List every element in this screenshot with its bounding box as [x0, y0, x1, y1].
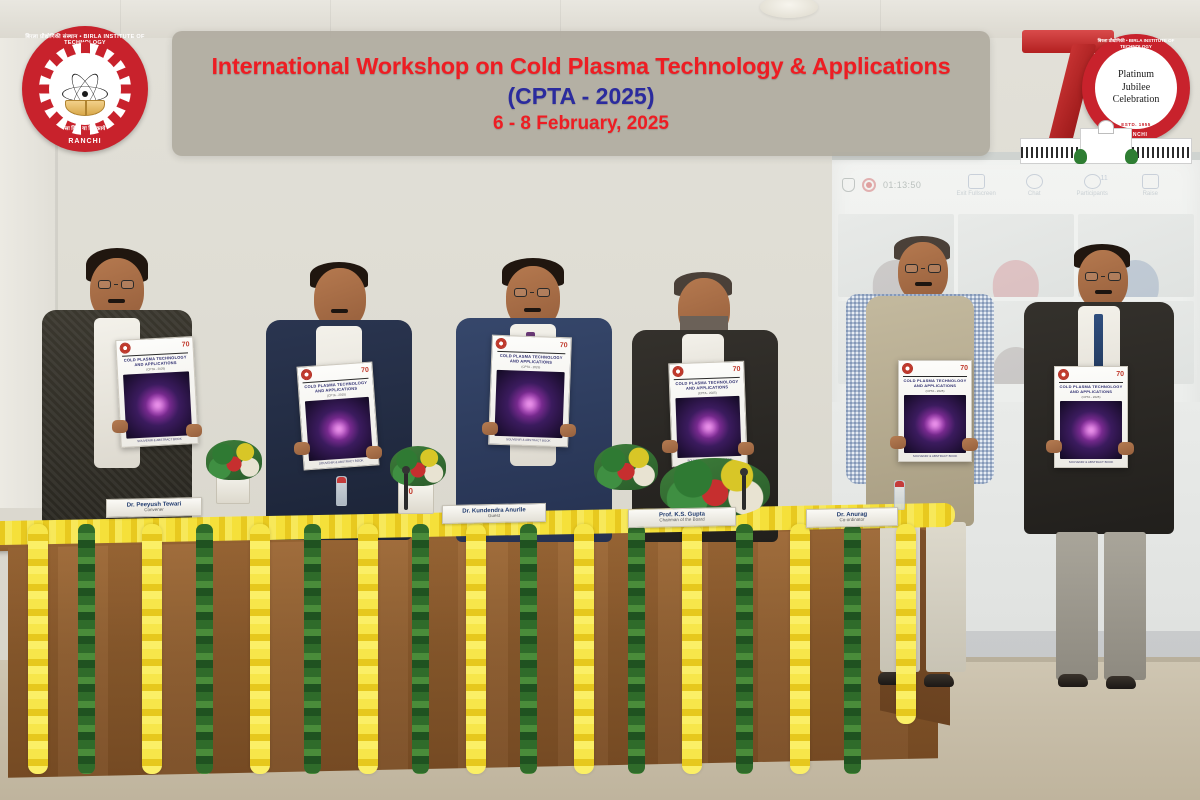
brochure-4[interactable]: 70 COLD PLASMA TECHNOLOGY AND APPLICATIO…	[668, 361, 748, 468]
institute-building-icon	[1018, 128, 1194, 164]
marigold-garland	[466, 524, 486, 774]
mustache	[108, 299, 125, 303]
hand	[1118, 442, 1134, 455]
brochure-institute-logo-icon	[495, 338, 506, 349]
nameplate-2: Dr. Kundendra Anurlle Guest	[442, 503, 546, 524]
eyeglasses-icon	[98, 280, 134, 289]
water-bottle	[336, 476, 347, 506]
microphone	[742, 472, 746, 510]
hand	[186, 424, 202, 437]
shoe	[924, 674, 954, 687]
marigold-garland	[574, 524, 594, 774]
brochure-institute-logo-icon	[1058, 369, 1069, 380]
raise-hand-icon	[1142, 174, 1159, 189]
leaf-garland	[844, 524, 861, 774]
marigold-garland	[358, 524, 378, 774]
leaf-garland	[412, 524, 429, 774]
water-bottle	[894, 480, 905, 510]
vc-control-participants[interactable]: 11 Participants	[1071, 174, 1113, 197]
mustache	[1095, 290, 1112, 294]
brochure-institute-logo-icon	[119, 342, 131, 354]
mustache	[915, 282, 932, 286]
leaf-garland	[196, 524, 213, 774]
brochure-institute-logo-icon	[672, 366, 683, 377]
vc-control-raise[interactable]: Raise	[1129, 174, 1171, 197]
banner-title: International Workshop on Cold Plasma Te…	[211, 53, 950, 80]
hand	[112, 420, 128, 433]
marigold-garland	[142, 524, 162, 774]
brochure-6[interactable]: 70 COLD PLASMA TECHNOLOGY AND APPLICATIO…	[1054, 366, 1128, 468]
hand	[366, 446, 382, 459]
leaf-garland	[628, 524, 645, 774]
marigold-garland	[682, 524, 702, 774]
participants-icon: 11	[1084, 174, 1101, 189]
banner-dates: 6 - 8 February, 2025	[493, 113, 669, 135]
legs	[1052, 532, 1148, 680]
eyeglasses-icon	[1085, 272, 1121, 281]
legs	[876, 522, 968, 672]
nameplate-3: Prof. K.S. Gupta Chairman of the Board	[628, 507, 736, 528]
plasma-image	[904, 395, 966, 453]
flower-arrangement	[390, 446, 446, 486]
shoe	[1058, 674, 1088, 687]
marigold-garland	[250, 524, 270, 774]
participants-count: 11	[1100, 175, 1107, 182]
hand	[962, 438, 978, 451]
hand	[560, 424, 576, 437]
platinum-jubilee-logo: बिरला प्रौद्योगिकी • BIRLA INSTITUTE OF …	[1018, 22, 1194, 164]
plasma-image	[123, 371, 192, 438]
nameplate-4: Dr. Anurag Co-ordinator	[806, 507, 898, 528]
exit-fullscreen-icon	[968, 174, 985, 189]
flower-arrangement	[206, 440, 262, 480]
meeting-timer: 01:13:50	[883, 180, 921, 190]
hand	[1046, 440, 1062, 453]
eyeglasses-icon	[905, 264, 941, 273]
hand	[662, 440, 678, 453]
chat-icon	[1026, 174, 1043, 189]
mustache	[331, 309, 348, 313]
plasma-image	[1060, 401, 1122, 459]
event-photograph: 01:13:50 Exit Fullscreen Chat 11 Partici…	[0, 0, 1200, 800]
vc-control-chat[interactable]: Chat	[1013, 174, 1055, 197]
marigold-garland	[896, 524, 916, 724]
banner-acronym: (CPTA - 2025)	[508, 83, 655, 110]
brochure-5[interactable]: 70 COLD PLASMA TECHNOLOGY AND APPLICATIO…	[898, 360, 972, 462]
plasma-image	[305, 397, 373, 461]
ceiling-light-icon	[760, 0, 818, 18]
leaf-garland	[520, 524, 537, 774]
leaf-garland	[736, 524, 753, 774]
marigold-garland	[28, 524, 48, 774]
leaf-garland	[78, 524, 95, 774]
record-icon[interactable]	[862, 178, 876, 192]
vc-control-exit-fullscreen[interactable]: Exit Fullscreen	[955, 174, 997, 197]
video-conference-toolbar[interactable]: 01:13:50 Exit Fullscreen Chat 11 Partici…	[832, 162, 1200, 208]
mustache	[524, 308, 541, 312]
brochure-institute-logo-icon	[301, 369, 313, 381]
nameplate-1: Dr. Peeyush Tewari Convener	[106, 497, 202, 518]
flower-arrangement	[594, 444, 658, 490]
plasma-image	[676, 396, 742, 458]
brochure-institute-logo-icon	[902, 363, 913, 374]
gear-icon	[39, 43, 131, 135]
eyeglasses-icon	[514, 288, 550, 297]
leaf-garland	[304, 524, 321, 774]
event-banner: International Workshop on Cold Plasma Te…	[172, 31, 990, 156]
institute-logo: बिरला प्रौद्योगिकी संस्थान • BIRLA INSTI…	[22, 26, 148, 152]
hand	[294, 442, 310, 455]
hand	[738, 442, 754, 455]
shield-icon	[842, 178, 855, 192]
plasma-image	[495, 370, 564, 438]
recording-status: 01:13:50	[842, 178, 921, 192]
vc-control-share[interactable]: Share	[1187, 174, 1200, 197]
hand	[890, 436, 906, 449]
microphone	[404, 470, 408, 510]
marigold-garland	[790, 524, 810, 774]
shoe	[1106, 676, 1136, 689]
hand	[482, 422, 498, 435]
